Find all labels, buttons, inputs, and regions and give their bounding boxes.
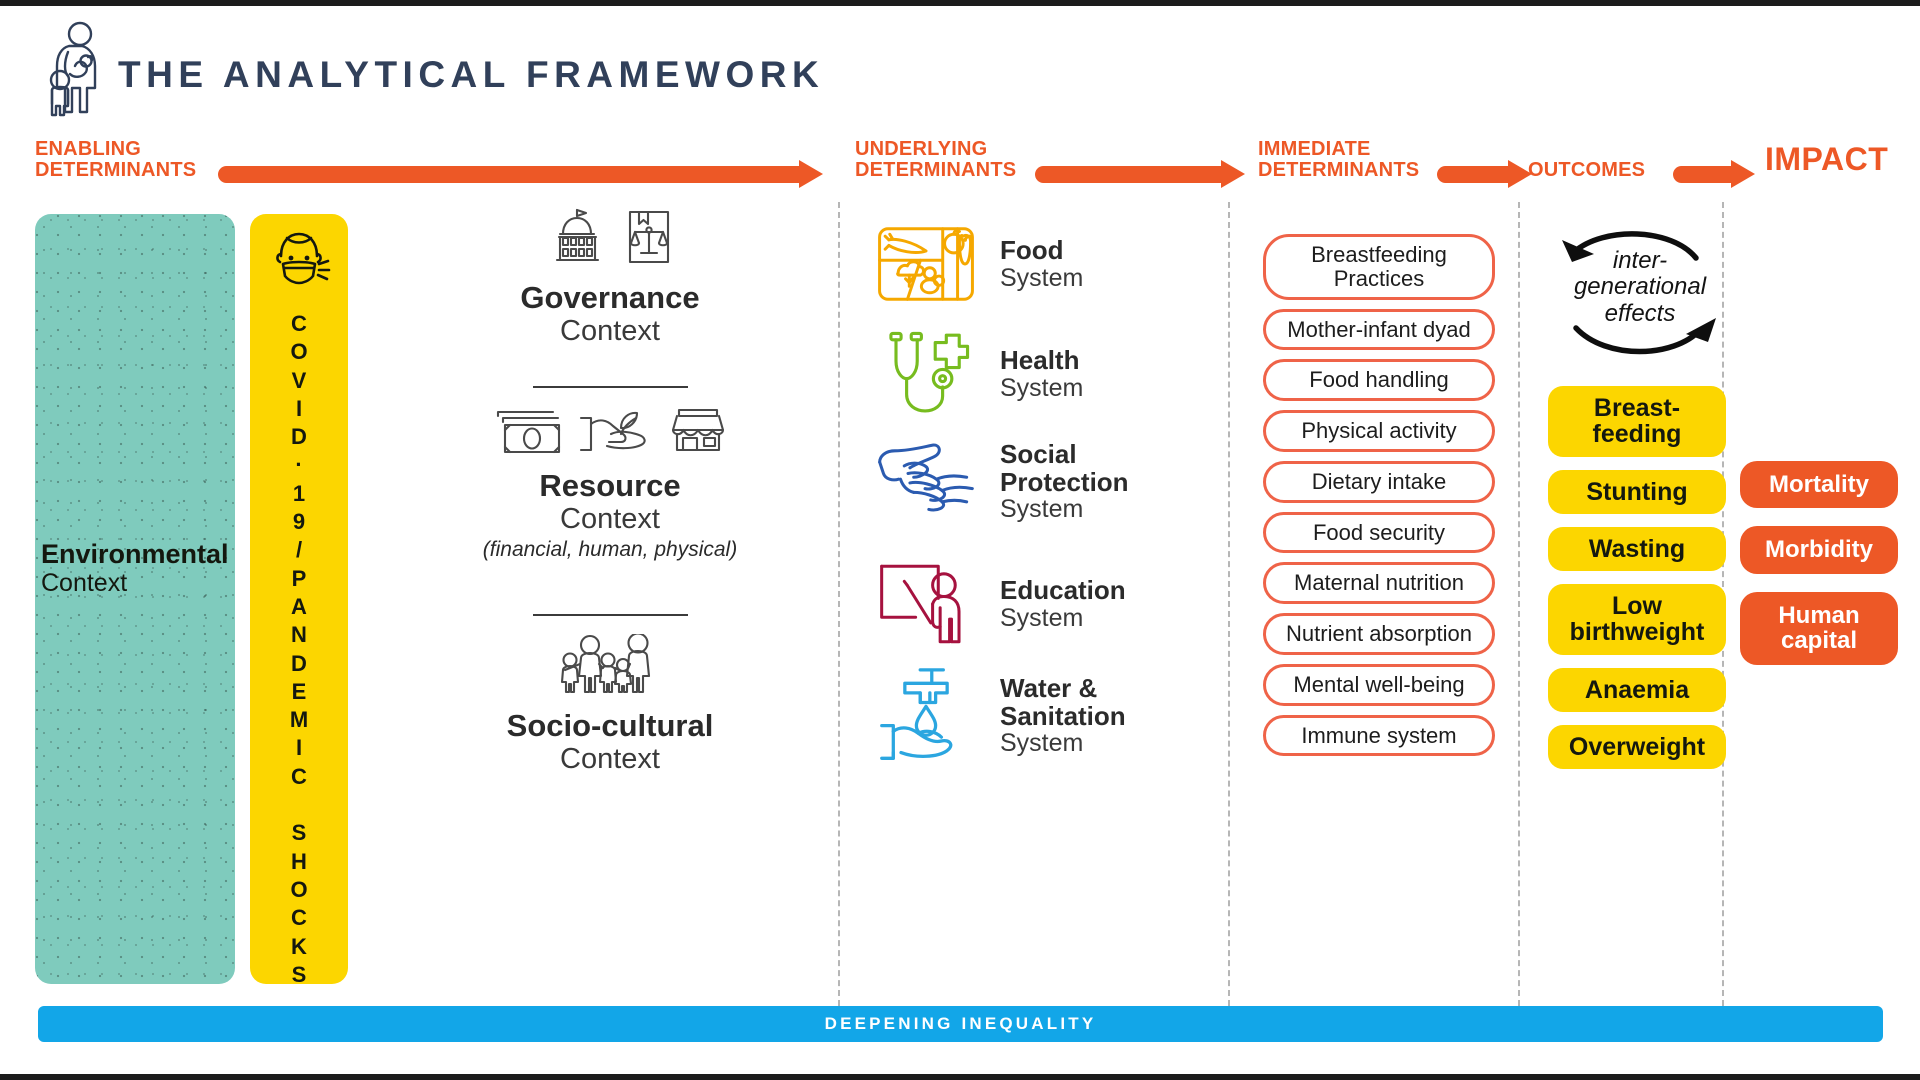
covid-letter: O (290, 338, 307, 366)
phase-line2: DETERMINANTS (35, 160, 196, 181)
underlying-systems-column: Food System Health System (870, 212, 1160, 1002)
arrow-immediate-to-outcomes (1437, 166, 1532, 183)
covid-letter: I (296, 734, 302, 762)
shop-storefront-icon (669, 404, 727, 461)
covid-letter: A (291, 593, 307, 621)
covid-letter: S (292, 819, 307, 847)
covid-letter: H (291, 848, 307, 876)
covid-letter: E (292, 678, 307, 706)
covid-letter: / (296, 536, 302, 564)
banner-label: DEEPENING INEQUALITY (825, 1014, 1097, 1034)
badge-line: Overweight (1569, 734, 1705, 760)
pill-line: Immune system (1301, 724, 1456, 748)
impact-badge[interactable]: Morbidity (1740, 526, 1898, 573)
badge-line: Stunting (1586, 479, 1687, 505)
system-row-social-protection: Social Protection System (870, 430, 1160, 534)
covid-letter: C (291, 904, 307, 932)
hand-with-seedling-icon (577, 404, 655, 461)
pill-line: Dietary intake (1312, 470, 1447, 494)
system-kind: System (1000, 730, 1126, 757)
system-label-health: Health System (1000, 347, 1083, 401)
badge-line: birthweight (1570, 619, 1705, 645)
badge-line: capital (1778, 628, 1859, 653)
system-kind: System (1000, 605, 1126, 632)
legal-scales-document-icon (622, 206, 674, 273)
system-label-social-protection: Social Protection System (1000, 441, 1129, 523)
governance-context-sub: Context (400, 315, 820, 348)
covid-letter: I (296, 395, 302, 423)
system-row-water-sanitation: Water & Sanitation System (870, 664, 1160, 768)
page-title: THE ANALYTICAL FRAMEWORK (118, 54, 824, 96)
phase-label-enabling: ENABLING DETERMINANTS (35, 139, 196, 181)
phase-label-impact: IMPACT (1765, 149, 1888, 170)
covid-letter: P (292, 565, 307, 593)
system-row-health: Health System (870, 322, 1160, 426)
covid-pandemic-shocks-panel: COVID·19/PANDEMIC SHOCKS (250, 214, 348, 984)
arrow-enabling-to-underlying (218, 166, 823, 183)
immediate-determinant-pill[interactable]: Mother-infant dyad (1263, 309, 1495, 351)
column-divider-underlying (838, 202, 840, 1016)
system-name-line1: Social (1000, 441, 1129, 469)
badge-line: feeding (1593, 421, 1682, 447)
immediate-determinants-column: BreastfeedingPracticesMother-infant dyad… (1263, 234, 1503, 765)
column-divider-outcomes (1518, 202, 1520, 1016)
covid-letter: C (291, 763, 307, 791)
governance-context-name: Governance (400, 281, 820, 315)
impact-badge[interactable]: Mortality (1740, 461, 1898, 508)
pill-line: Food handling (1309, 368, 1448, 392)
outcome-badge-list: Breast-feedingStuntingWastingLowbirthwei… (1530, 386, 1745, 769)
outcome-badge[interactable]: Breast-feeding (1548, 386, 1726, 457)
impact-column: MortalityMorbidityHumancapital (1740, 461, 1900, 683)
intergen-line1: inter- (1540, 248, 1740, 274)
masked-child-icon (263, 228, 335, 298)
immediate-determinant-pill[interactable]: Food handling (1263, 359, 1495, 401)
stethoscope-cross-icon (870, 322, 982, 426)
intergenerational-effects-group: inter- generational effects (1540, 218, 1740, 368)
arrow-underlying-to-immediate (1035, 166, 1245, 183)
immediate-determinant-pill[interactable]: Maternal nutrition (1263, 562, 1495, 604)
deepening-inequality-banner: DEEPENING INEQUALITY (38, 1006, 1883, 1042)
intergen-line3: effects (1540, 301, 1740, 327)
intergenerational-effects-label: inter- generational effects (1540, 248, 1740, 327)
system-name: Education (1000, 577, 1126, 605)
speckle-texture (35, 214, 235, 984)
outcome-badge[interactable]: Stunting (1548, 470, 1726, 514)
immediate-determinant-pill[interactable]: BreastfeedingPractices (1263, 234, 1495, 300)
context-divider-rule-1 (533, 386, 688, 388)
pill-line: Mother-infant dyad (1287, 318, 1470, 342)
outcome-badge[interactable]: Anaemia (1548, 668, 1726, 712)
framework-diagram: THE ANALYTICAL FRAMEWORK ENABLING DETERM… (0, 0, 1920, 1080)
banknotes-icon (493, 408, 563, 461)
immediate-determinant-pill[interactable]: Nutrient absorption (1263, 613, 1495, 655)
outcome-badge[interactable]: Lowbirthweight (1548, 584, 1726, 655)
resource-context-sub: Context (400, 503, 820, 536)
circular-arrows-icon (1540, 355, 1740, 372)
socio-cultural-context-name: Socio-cultural (400, 709, 820, 743)
covid-letter: 9 (293, 508, 305, 536)
covid-letter: · (295, 451, 302, 479)
system-label-water-sanitation: Water & Sanitation System (1000, 675, 1126, 757)
column-divider-immediate (1228, 202, 1230, 1016)
system-label-food: Food System (1000, 237, 1083, 291)
immediate-determinant-pill[interactable]: Immune system (1263, 715, 1495, 757)
resource-context-block: Resource Context (financial, human, phys… (400, 404, 820, 562)
pill-line: Breastfeeding (1311, 243, 1447, 267)
badge-line: Breast- (1593, 395, 1682, 421)
environmental-context-panel: Environmental Context (35, 214, 235, 984)
badge-line: Morbidity (1765, 537, 1873, 562)
system-kind: System (1000, 375, 1083, 402)
covid-letter: N (291, 621, 307, 649)
outcomes-column: inter- generational effects Breast-feedi… (1530, 218, 1745, 782)
resource-context-name: Resource (400, 469, 820, 503)
covid-letter: D (291, 423, 307, 451)
system-label-education: Education System (1000, 577, 1126, 631)
covid-letter: C (291, 310, 307, 338)
resource-context-note: (financial, human, physical) (400, 538, 820, 562)
badge-line: Low (1570, 593, 1705, 619)
outcome-badge[interactable]: Overweight (1548, 725, 1726, 769)
covid-letter: M (290, 706, 308, 734)
phase-label-underlying: UNDERLYING DETERMINANTS (855, 139, 1016, 181)
covid-letter (296, 791, 302, 819)
immediate-determinant-pill[interactable]: Dietary intake (1263, 461, 1495, 503)
mother-and-child-icon (30, 18, 110, 118)
covid-letter: K (291, 933, 307, 961)
phase-label-immediate: IMMEDIATE DETERMINANTS (1258, 139, 1419, 181)
system-row-food: Food System (870, 212, 1160, 316)
tap-handwash-icon (870, 664, 982, 768)
pill-line: Nutrient absorption (1286, 622, 1472, 646)
pill-line: Practices (1311, 267, 1447, 291)
covid-letter: S (292, 961, 307, 989)
socio-cultural-context-block: Socio-cultural Context (400, 634, 820, 776)
pill-line: Mental well-being (1293, 673, 1464, 697)
phase-line1: UNDERLYING (855, 139, 1016, 160)
food-tray-icon (870, 212, 982, 316)
system-row-education: Education System (870, 552, 1160, 656)
governance-context-block: Governance Context (400, 206, 820, 348)
helping-hands-icon (870, 430, 982, 534)
diagram-header: THE ANALYTICAL FRAMEWORK (0, 6, 1920, 136)
system-name: Food (1000, 237, 1083, 265)
socio-cultural-context-sub: Context (400, 743, 820, 776)
system-name-line2: Sanitation (1000, 703, 1126, 731)
pill-line: Maternal nutrition (1294, 571, 1464, 595)
arrow-outcomes-to-impact (1673, 166, 1755, 183)
pill-line: Physical activity (1301, 419, 1456, 443)
phase-line2: DETERMINANTS (1258, 160, 1419, 181)
family-group-icon (557, 634, 663, 701)
teacher-blackboard-icon (870, 552, 982, 656)
badge-line: Wasting (1589, 536, 1685, 562)
phase-line1: ENABLING (35, 139, 196, 160)
immediate-determinant-pill[interactable]: Physical activity (1263, 410, 1495, 452)
badge-line: Human (1778, 603, 1859, 628)
outcome-badge[interactable]: Wasting (1548, 527, 1726, 571)
covid-letter: O (290, 876, 307, 904)
badge-line: Anaemia (1585, 677, 1689, 703)
covid-vertical-label: COVID·19/PANDEMIC SHOCKS (250, 310, 348, 974)
covid-letter: D (291, 650, 307, 678)
context-divider-rule-2 (533, 614, 688, 616)
covid-letter: 1 (293, 480, 305, 508)
impact-badge[interactable]: Humancapital (1740, 592, 1898, 665)
system-name-line2: Protection (1000, 469, 1129, 497)
phase-line1: IMMEDIATE (1258, 139, 1419, 160)
badge-line: Mortality (1769, 472, 1869, 497)
phase-line2: DETERMINANTS (855, 160, 1016, 181)
phase-label-outcomes: OUTCOMES (1528, 160, 1645, 181)
environmental-context-title: Environmental (41, 540, 227, 568)
intergen-line2: generational (1540, 274, 1740, 300)
system-kind: System (1000, 496, 1129, 523)
system-name: Health (1000, 347, 1083, 375)
government-building-icon (546, 206, 608, 273)
covid-letter: V (292, 367, 307, 395)
environmental-context-subtitle: Context (41, 568, 227, 596)
enabling-context-column: Governance Context (400, 206, 820, 996)
system-kind: System (1000, 265, 1083, 292)
immediate-determinant-pill[interactable]: Mental well-being (1263, 664, 1495, 706)
pill-line: Food security (1313, 521, 1445, 545)
system-name-line1: Water & (1000, 675, 1126, 703)
immediate-determinant-pill[interactable]: Food security (1263, 512, 1495, 554)
phase-strip: ENABLING DETERMINANTS UNDERLYING DETERMI… (0, 134, 1920, 196)
